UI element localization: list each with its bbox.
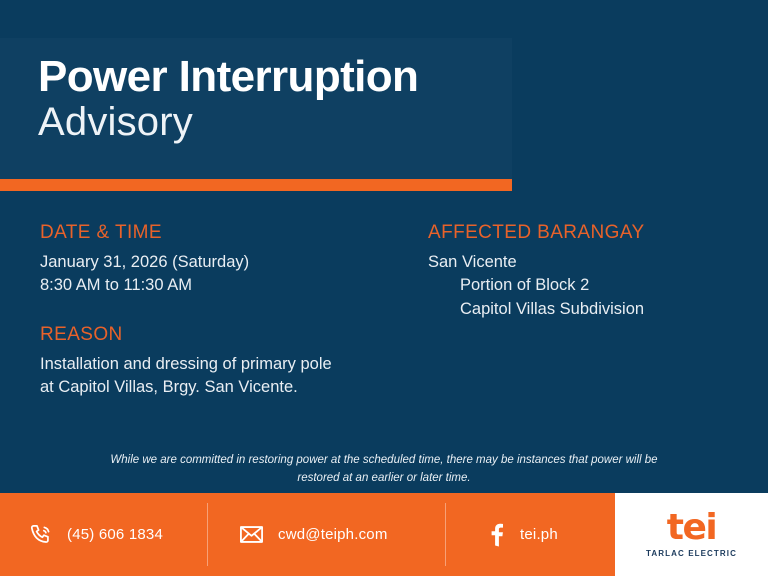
brand-logo: tei TARLAC ELECTRIC	[615, 493, 768, 576]
affected-barangay-body: San Vicente Portion of Block 2 Capitol V…	[428, 251, 748, 321]
barangay-detail-1: Portion of Block 2	[428, 274, 748, 297]
logo-tagline: TARLAC ELECTRIC	[646, 549, 737, 558]
date-time-body: January 31, 2026 (Saturday) 8:30 AM to 1…	[40, 251, 420, 298]
footer-bar: (45) 606 1834 cwd@teiph.com	[0, 493, 768, 576]
reason-line-2: at Capitol Villas, Brgy. San Vicente.	[40, 376, 420, 399]
reason-section: REASON Installation and dressing of prim…	[40, 324, 420, 400]
left-column: DATE & TIME January 31, 2026 (Saturday) …	[40, 222, 420, 400]
advisory-poster: Power Interruption Advisory DATE & TIME …	[0, 0, 768, 576]
date-value: January 31, 2026 (Saturday)	[40, 251, 420, 274]
page-title: Power Interruption	[38, 54, 418, 100]
header-accent-bar	[0, 179, 512, 191]
email-label: cwd@teiph.com	[278, 526, 388, 543]
disclaimer-note: While we are committed in restoring powe…	[52, 452, 716, 488]
logo-wordmark: tei	[667, 511, 716, 544]
footer-email-item[interactable]: cwd@teiph.com	[207, 493, 445, 576]
envelope-icon	[238, 521, 265, 548]
facebook-label: tei.ph	[520, 526, 558, 543]
reason-heading: REASON	[40, 324, 420, 346]
reason-line-1: Installation and dressing of primary pol…	[40, 353, 420, 376]
date-time-section: DATE & TIME January 31, 2026 (Saturday) …	[40, 222, 420, 298]
phone-icon	[28, 522, 54, 548]
phone-label: (45) 606 1834	[67, 526, 163, 543]
disclaimer-line-1: While we are committed in restoring powe…	[52, 452, 716, 470]
section-spacer	[40, 298, 420, 324]
footer-facebook-item[interactable]: tei.ph	[445, 493, 615, 576]
facebook-icon	[485, 523, 507, 547]
affected-barangay-section: AFFECTED BARANGAY San Vicente Portion of…	[428, 222, 748, 321]
footer-contact-list: (45) 606 1834 cwd@teiph.com	[0, 493, 615, 576]
advisory-content: DATE & TIME January 31, 2026 (Saturday) …	[0, 222, 768, 442]
footer-divider	[445, 503, 446, 566]
page-subtitle: Advisory	[38, 100, 418, 145]
affected-barangay-heading: AFFECTED BARANGAY	[428, 222, 748, 244]
date-time-heading: DATE & TIME	[40, 222, 420, 244]
disclaimer-line-2: restored at an earlier or later time.	[52, 470, 716, 488]
title-block: Power Interruption Advisory	[38, 54, 418, 145]
header-panel: Power Interruption Advisory	[0, 38, 512, 179]
footer-phone-item[interactable]: (45) 606 1834	[0, 493, 207, 576]
footer-divider	[207, 503, 208, 566]
barangay-name: San Vicente	[428, 251, 748, 274]
right-column: AFFECTED BARANGAY San Vicente Portion of…	[428, 222, 748, 321]
reason-body: Installation and dressing of primary pol…	[40, 353, 420, 400]
time-value: 8:30 AM to 11:30 AM	[40, 274, 420, 297]
barangay-detail-2: Capitol Villas Subdivision	[428, 298, 748, 321]
